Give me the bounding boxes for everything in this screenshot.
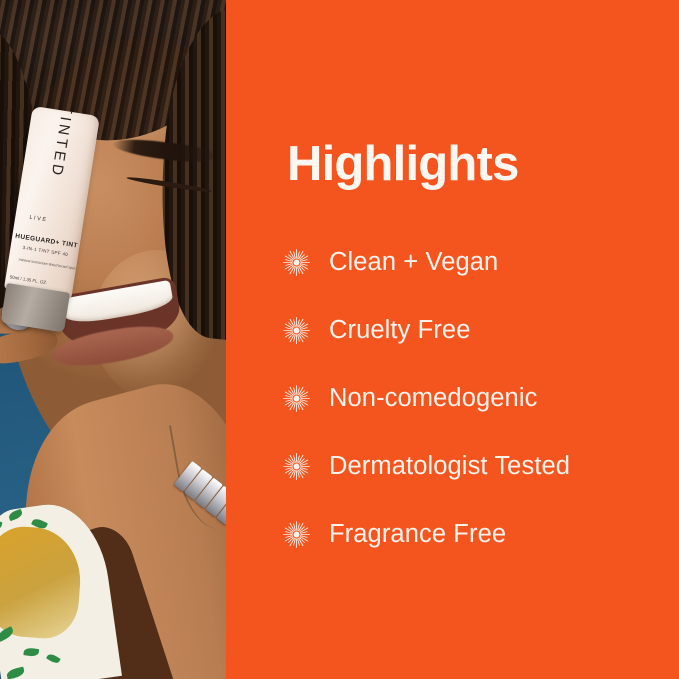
list-item: Fragrance Free — [283, 500, 673, 568]
list-item-label: Cruelty Free — [329, 316, 471, 345]
list-item: Cruelty Free — [283, 296, 673, 364]
sunburst-icon — [283, 385, 310, 412]
list-item-label: Fragrance Free — [329, 520, 506, 549]
list-item-label: Dermatologist Tested — [329, 452, 570, 481]
tube-brand-label: TINTED — [47, 106, 76, 180]
list-item: Non-comedogenic — [283, 364, 673, 432]
shirt-leaf-motif — [46, 652, 61, 665]
sunburst-icon — [283, 249, 310, 276]
tube-sub-brand-label: LIVE — [29, 215, 48, 224]
highlights-panel: Highlights Clean + Vegan Cruelty Free No… — [226, 0, 679, 679]
product-model-photo: TINTED LIVE HUEGUARD+ TINT 3-IN-1 TINT S… — [0, 0, 226, 679]
list-item-label: Clean + Vegan — [329, 248, 498, 277]
list-item-label: Non-comedogenic — [329, 384, 537, 413]
shirt-yellow-pattern — [0, 524, 84, 640]
highlights-list: Clean + Vegan Cruelty Free Non-comedogen… — [283, 228, 673, 568]
list-item: Clean + Vegan — [283, 228, 673, 296]
sunburst-icon — [283, 521, 310, 548]
list-item: Dermatologist Tested — [283, 432, 673, 500]
shirt-leaf-motif — [23, 647, 39, 657]
sunburst-icon — [283, 453, 310, 480]
shirt-leaf-motif — [6, 667, 26, 679]
shirt-leaf-motif — [8, 509, 24, 521]
page-title: Highlights — [287, 140, 519, 189]
tube-fine-print-label: mineral sunscreen tinted broad spectrum — [18, 258, 83, 273]
sunburst-icon — [283, 317, 310, 344]
product-highlights-screenshot: TINTED LIVE HUEGUARD+ TINT 3-IN-1 TINT S… — [0, 0, 679, 679]
shirt-leaf-motif — [0, 518, 3, 531]
